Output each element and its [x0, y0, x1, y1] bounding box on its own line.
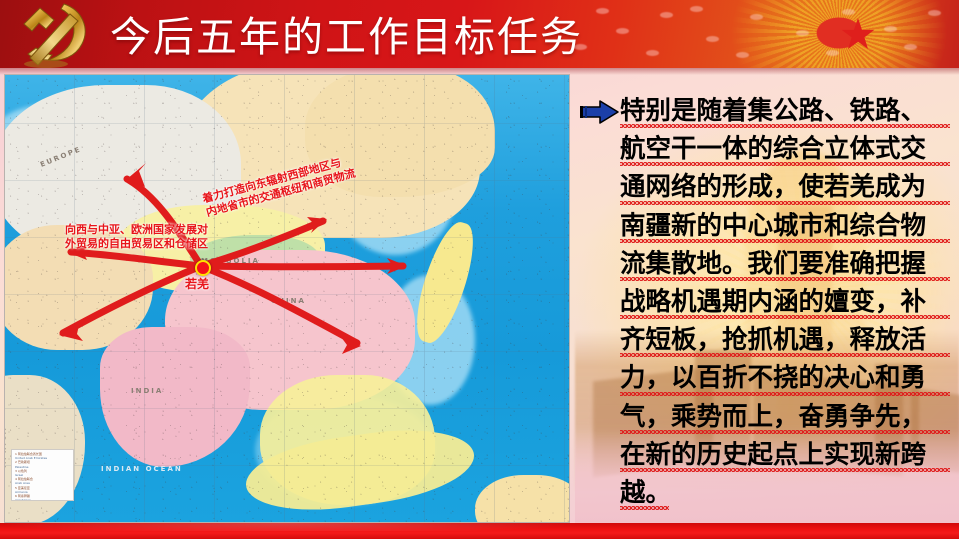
- body-text-line: 通网络的形成，使若羌成为: [620, 168, 952, 206]
- body-text-line: 在新的历史起点上实现新跨: [620, 436, 952, 474]
- body-paragraph: 特别是随着集公路、铁路、航空干一体的综合立体式交通网络的形成，使若羌成为南疆新的…: [620, 92, 952, 512]
- footer-bar: [0, 523, 959, 539]
- page-title: 今后五年的工作目标任务: [110, 10, 583, 64]
- map-route-arrows: [5, 75, 569, 522]
- map-marker-ruoqiang[interactable]: [195, 260, 211, 276]
- map-annotation-west-line1: 向西与中亚、欧洲国家发展对: [65, 223, 208, 237]
- header-bokeh-dots: [539, 0, 959, 68]
- body-text-line: 战略机遇期内涵的嬗变，补: [620, 283, 952, 321]
- body-text-line: 齐短板，抢抓机遇，释放活: [620, 321, 952, 359]
- slide-root: 今后五年的工作目标任务 EUROPE: [0, 0, 959, 539]
- map-annotation-west: 向西与中亚、欧洲国家发展对 外贸易的自由贸易区和仓储区: [65, 223, 208, 251]
- blue-right-arrow-icon: [580, 99, 620, 125]
- body-text-line: 流集散地。我们要准确把握: [620, 245, 952, 283]
- body-text-line: 气，乘势而上，奋勇争先，: [620, 398, 952, 436]
- body-text-line: 越。: [620, 474, 671, 512]
- slide-header: 今后五年的工作目标任务: [0, 0, 959, 68]
- map-image[interactable]: EUROPE MONGOLIA CHINA INDIA INDIAN OCEAN…: [4, 74, 570, 523]
- hammer-and-sickle-emblem: [6, 0, 102, 68]
- footer-bar-sheen: [0, 523, 959, 531]
- body-text-line: 力，以百折不挠的决心和勇: [620, 359, 952, 397]
- map-legend: 1 阿拉伯联合酋长国United Arab Emirates2 巴勒斯坦Pale…: [11, 449, 74, 501]
- map-annotation-west-line2: 外贸易的自由贸易区和仓储区: [65, 237, 208, 251]
- body-text-line: 南疆新的中心城市和综合物: [620, 207, 952, 245]
- map-legend-item-en: Azerbaijan: [15, 498, 70, 501]
- map-marker-label-ruoqiang: 若羌: [185, 275, 209, 292]
- body-text-line: 特别是随着集公路、铁路、: [620, 92, 952, 130]
- body-text-line: 航空干一体的综合立体式交: [620, 130, 952, 168]
